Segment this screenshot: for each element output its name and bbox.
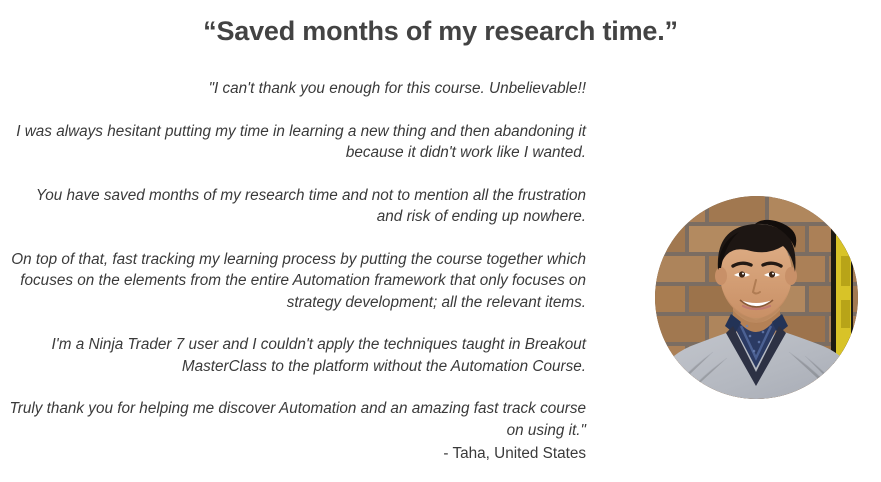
quote-paragraph: On top of that, fast tracking my learnin… — [8, 249, 586, 314]
quote-paragraph: I'm a Ninja Trader 7 user and I couldn't… — [8, 334, 586, 377]
testimonial-quote: "I can't thank you enough for this cours… — [8, 78, 586, 441]
testimonial-card: “Saved months of my research time.” "I c… — [0, 0, 881, 482]
avatar — [655, 196, 858, 399]
quote-paragraph: I was always hesitant putting my time in… — [8, 121, 586, 164]
quote-attribution: - Taha, United States — [8, 445, 586, 463]
page-title: “Saved months of my research time.” — [0, 14, 881, 48]
quote-paragraph: "I can't thank you enough for this cours… — [8, 78, 586, 100]
portrait-photo — [655, 196, 858, 399]
quote-paragraph: Truly thank you for helping me discover … — [8, 398, 586, 441]
quote-paragraph: You have saved months of my research tim… — [8, 185, 586, 228]
